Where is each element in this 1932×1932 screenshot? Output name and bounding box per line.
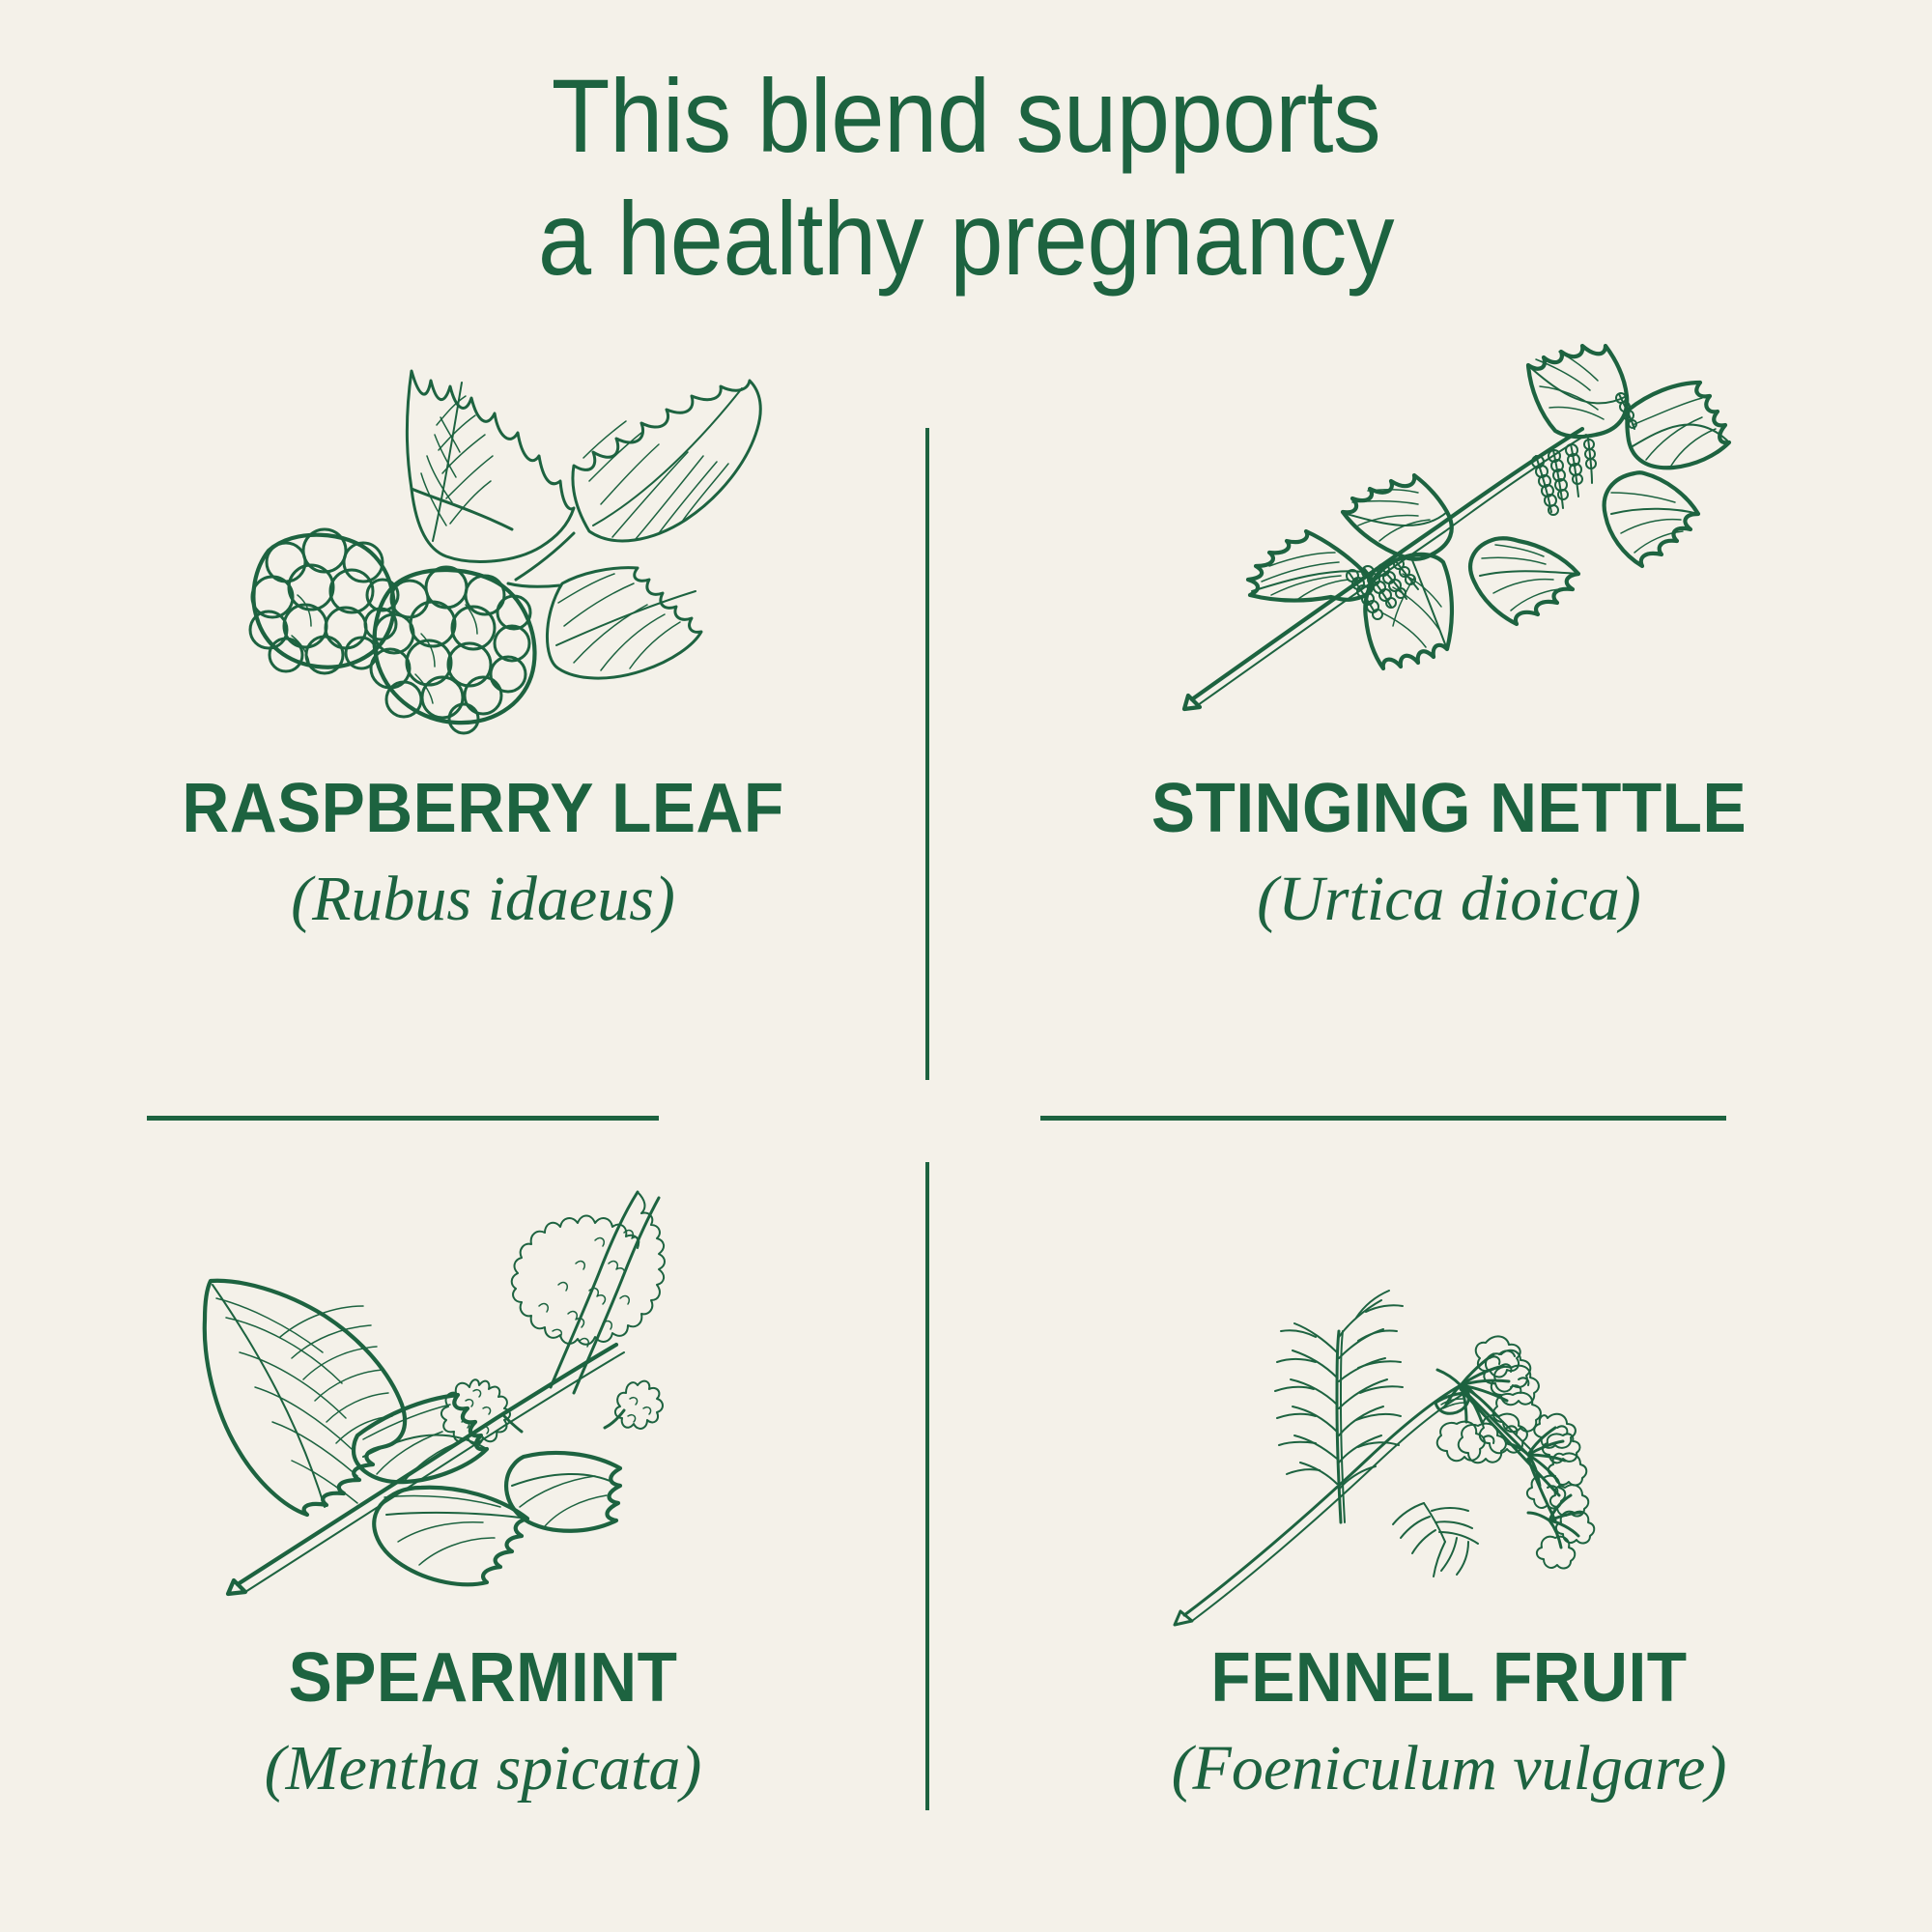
page-title: This blend supports a healthy pregnancy <box>77 54 1855 300</box>
spearmint-illustration <box>184 1179 782 1633</box>
nettle-illustration <box>1150 309 1748 763</box>
herb-card-raspberry-leaf: RASPBERRY LEAF (Rubus idaeus) <box>39 309 927 939</box>
herb-card-spearmint: SPEARMINT (Mentha spicata) <box>39 1179 927 1808</box>
infographic-root: This blend supports a healthy pregnancy <box>0 0 1932 1932</box>
herb-labels: SPEARMINT (Mentha spicata) <box>39 1642 927 1808</box>
raspberry-illustration <box>184 309 782 763</box>
fennel-illustration <box>1150 1179 1748 1633</box>
herb-common-name: STINGING NETTLE <box>1032 773 1867 846</box>
herb-latin-name: (Foeniculum vulgare) <box>1005 1729 1893 1809</box>
herb-latin-name: (Mentha spicata) <box>39 1729 927 1809</box>
herb-common-name: RASPBERRY LEAF <box>66 773 901 846</box>
herb-latin-name: (Urtica dioica) <box>1005 860 1893 940</box>
herb-common-name: SPEARMINT <box>66 1642 901 1716</box>
herb-card-stinging-nettle: STINGING NETTLE (Urtica dioica) <box>1005 309 1893 939</box>
headline-line-2: a healthy pregnancy <box>77 177 1855 299</box>
herb-grid: RASPBERRY LEAF (Rubus idaeus) <box>0 290 1932 1932</box>
herb-labels: FENNEL FRUIT (Foeniculum vulgare) <box>1005 1642 1893 1808</box>
headline-line-1: This blend supports <box>552 57 1380 174</box>
herb-common-name: FENNEL FRUIT <box>1032 1642 1867 1716</box>
herb-latin-name: (Rubus idaeus) <box>39 860 927 940</box>
herb-card-fennel-fruit: FENNEL FRUIT (Foeniculum vulgare) <box>1005 1179 1893 1808</box>
herb-labels: RASPBERRY LEAF (Rubus idaeus) <box>39 773 927 939</box>
herb-labels: STINGING NETTLE (Urtica dioica) <box>1005 773 1893 939</box>
